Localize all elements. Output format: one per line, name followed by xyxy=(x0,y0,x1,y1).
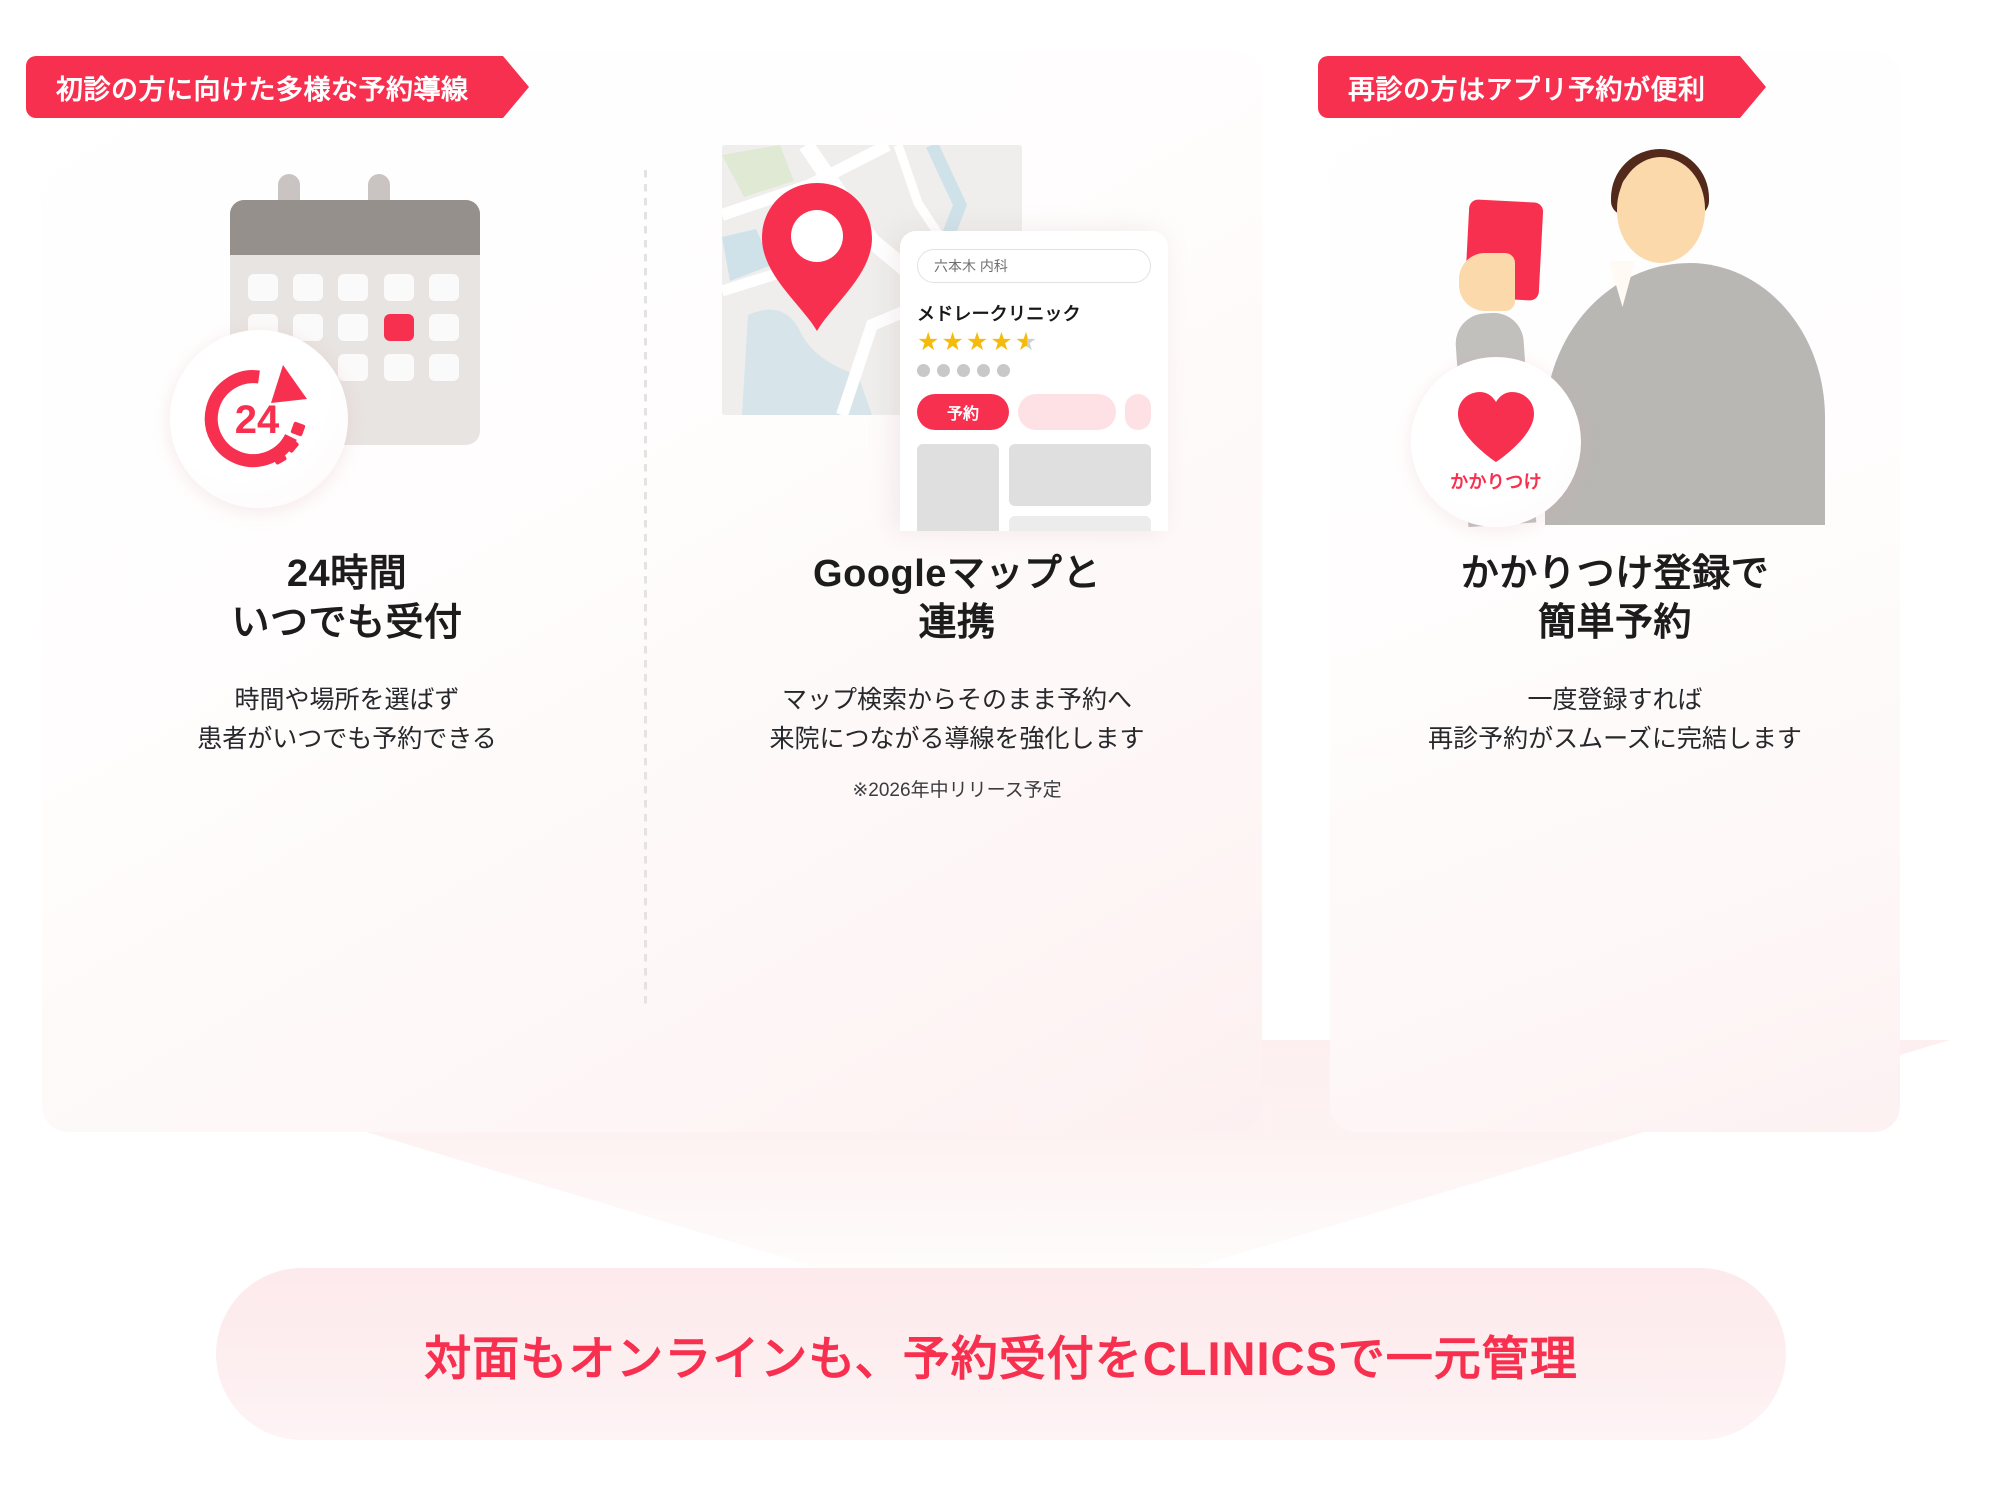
thumbnail-placeholder xyxy=(1009,444,1151,506)
feature-maps-description: マップ検索からそのまま予約へ 来院につながる導線を強化します xyxy=(769,681,1144,759)
map-search-value: 六本木 内科 xyxy=(934,256,1008,276)
calendar-day-cell xyxy=(338,354,368,381)
review-dot xyxy=(977,364,990,377)
star-full-icon: ★ xyxy=(966,328,990,356)
review-dot xyxy=(917,364,930,377)
summary-banner: 対面もオンラインも、予約受付をCLINICSで一元管理 xyxy=(216,1268,1786,1440)
feature-24h-title: 24時間 いつでも受付 xyxy=(231,550,462,647)
star-full-icon: ★ xyxy=(941,328,965,356)
twentyfour-hour-badge: 24 xyxy=(170,330,348,508)
first-visit-columns: 24 24時間 いつでも受付 時間や場所を選ばず 患者がいつでも予約できる xyxy=(42,120,1262,1020)
ribbon-returning-visit: 再診の方はアプリ予約が便利 xyxy=(1318,56,1740,118)
tertiary-action-placeholder[interactable] xyxy=(1125,394,1151,430)
badge-24-label: 24 xyxy=(235,398,280,442)
feature-24h: 24 24時間 いつでも受付 時間や場所を選ばず 患者がいつでも予約できる xyxy=(42,120,652,1020)
feature-section: 初診の方に向けた多様な予約導線 再診の方はアプリ予約が便利 xyxy=(0,0,2000,1500)
feature-24h-title-line2: いつでも受付 xyxy=(231,599,462,648)
thumbnail-placeholder xyxy=(1009,516,1151,531)
calendar-day-cell xyxy=(293,314,323,341)
feature-maps-note: ※2026年中リリース予定 xyxy=(852,775,1061,802)
hand-icon xyxy=(1459,253,1515,311)
calendar-day-cell xyxy=(429,274,459,301)
heart-icon xyxy=(1454,390,1538,466)
head-icon xyxy=(1617,157,1705,263)
map-action-row: 予約 xyxy=(917,394,1151,430)
rating-stars: ★★★★★ xyxy=(917,330,1151,355)
summary-banner-text: 対面もオンラインも、予約受付をCLINICSで一元管理 xyxy=(424,1320,1578,1389)
calendar-day-cell xyxy=(429,354,459,381)
calendar-day-cell xyxy=(338,274,368,301)
ribbon-first-visit: 初診の方に向けた多様な予約導線 xyxy=(26,56,503,118)
feature-maps-title: Googleマップと 連携 xyxy=(813,550,1101,647)
feature-kakaritsuke-title: かかりつけ登録で 簡単予約 xyxy=(1461,550,1769,647)
torso-icon xyxy=(1545,263,1825,525)
feature-24h-desc-line2: 患者がいつでも予約できる xyxy=(197,720,497,759)
star-full-icon: ★ xyxy=(990,328,1014,356)
kakaritsuke-badge: かかりつけ xyxy=(1411,357,1581,527)
feature-24h-title-line1: 24時間 xyxy=(231,550,462,599)
feature-kakaritsuke: かかりつけ かかりつけ登録で 簡単予約 一度登録すれば 再診予約がスムーズに完結… xyxy=(1330,120,1900,1020)
review-dot xyxy=(997,364,1010,377)
calendar-day-cell xyxy=(248,274,278,301)
feature-maps-title-line2: 連携 xyxy=(813,599,1101,648)
star-half-icon: ★ xyxy=(1015,328,1039,356)
map-thumbnail-row xyxy=(917,444,1151,531)
review-dot xyxy=(937,364,950,377)
star-full-icon: ★ xyxy=(917,328,941,356)
kakaritsuke-badge-label: かかりつけ xyxy=(1450,468,1542,494)
ribbon-returning-visit-label: 再診の方はアプリ予約が便利 xyxy=(1348,68,1706,107)
secondary-action-placeholder[interactable] xyxy=(1018,394,1116,430)
map-pin-icon xyxy=(756,179,878,335)
calendar-illustration: 24 xyxy=(42,120,652,550)
feature-24h-desc-line1: 時間や場所を選ばず xyxy=(197,681,497,720)
review-dot xyxy=(957,364,970,377)
ribbon-first-visit-label: 初診の方に向けた多様な予約導線 xyxy=(56,68,469,107)
feature-maps-desc-line1: マップ検索からそのまま予約へ xyxy=(769,681,1144,720)
thumbnail-placeholder xyxy=(917,444,999,531)
feature-kakaritsuke-desc-line1: 一度登録すれば xyxy=(1428,681,1802,720)
person-illustration: かかりつけ xyxy=(1330,120,1900,550)
calendar-day-cell xyxy=(293,274,323,301)
feature-maps-title-line1: Googleマップと xyxy=(813,550,1101,599)
review-dots xyxy=(917,364,1151,377)
calendar-header-band xyxy=(230,200,480,255)
map-illustration: 六本木 内科 メドレークリニック ★★★★★ xyxy=(652,120,1262,550)
column-divider xyxy=(644,170,647,1010)
map-search-input[interactable]: 六本木 内科 xyxy=(917,249,1151,283)
clock-arrow-24-icon: 24 xyxy=(199,359,319,479)
clinic-name: メドレークリニック xyxy=(917,300,1151,326)
feature-google-maps: 六本木 内科 メドレークリニック ★★★★★ xyxy=(652,120,1262,1020)
calendar-day-cell xyxy=(384,274,414,301)
returning-visit-column: かかりつけ かかりつけ登録で 簡単予約 一度登録すれば 再診予約がスムーズに完結… xyxy=(1330,120,1900,1020)
calendar-day-cell xyxy=(338,314,368,341)
calendar-day-cell xyxy=(429,314,459,341)
feature-maps-desc-line2: 来院につながる導線を強化します xyxy=(769,720,1144,759)
feature-kakaritsuke-title-line1: かかりつけ登録で xyxy=(1461,550,1769,599)
feature-24h-description: 時間や場所を選ばず 患者がいつでも予約できる xyxy=(197,681,497,759)
feature-kakaritsuke-desc-line2: 再診予約がスムーズに完結します xyxy=(1428,720,1802,759)
calendar-day-cell xyxy=(384,354,414,381)
feature-kakaritsuke-description: 一度登録すれば 再診予約がスムーズに完結します xyxy=(1428,681,1802,759)
reserve-button[interactable]: 予約 xyxy=(917,394,1009,430)
fringe-icon xyxy=(1621,173,1657,199)
calendar-day-cell-selected xyxy=(384,314,414,341)
map-result-card: 六本木 内科 メドレークリニック ★★★★★ xyxy=(900,231,1168,531)
feature-kakaritsuke-title-line2: 簡単予約 xyxy=(1461,599,1769,648)
